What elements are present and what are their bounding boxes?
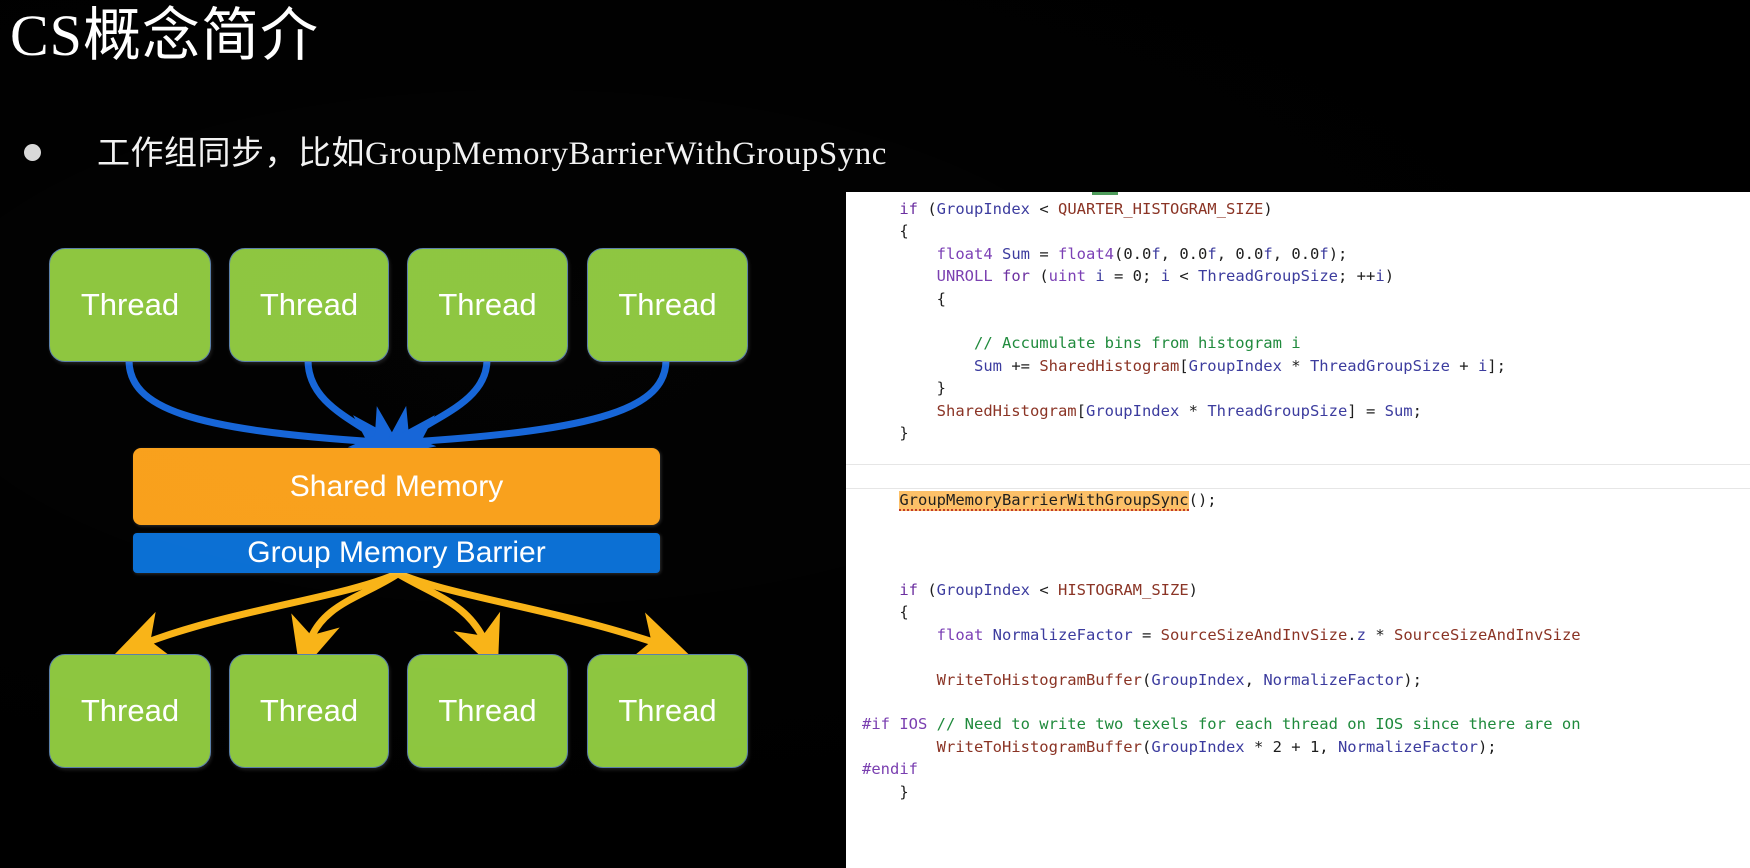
thread-box-bottom-3[interactable]: Thread (407, 654, 568, 768)
bullet-dot-icon (24, 144, 41, 161)
thread-box-label: Thread (618, 287, 716, 323)
thread-box-label: Thread (260, 693, 358, 729)
thread-box-label: Thread (260, 287, 358, 323)
arrow-thread-to-shared-memory (129, 360, 666, 442)
group-memory-barrier-box[interactable]: Group Memory Barrier (133, 533, 660, 573)
thread-box-top-2[interactable]: Thread (229, 248, 389, 362)
shared-memory-label: Shared Memory (290, 470, 503, 504)
code-content[interactable]: if (GroupIndex < QUARTER_HISTOGRAM_SIZE)… (846, 198, 1581, 803)
group-memory-barrier-label: Group Memory Barrier (247, 536, 545, 570)
bullet-item-label: 工作组同步，比如GroupMemoryBarrierWithGroupSync (97, 126, 887, 174)
thread-box-label: Thread (81, 287, 179, 323)
thread-box-bottom-4[interactable]: Thread (587, 654, 748, 768)
thread-box-top-4[interactable]: Thread (587, 248, 748, 362)
thread-box-label: Thread (438, 287, 536, 323)
bullet-list-item: 工作组同步，比如GroupMemoryBarrierWithGroupSync (24, 126, 887, 174)
thread-box-label: Thread (618, 693, 716, 729)
page-title: CS概念简介 (10, 4, 319, 68)
code-scroll-area[interactable]: if (GroupIndex < QUARTER_HISTOGRAM_SIZE)… (846, 192, 1750, 868)
thread-box-bottom-1[interactable]: Thread (49, 654, 211, 768)
thread-group-diagram: Thread Thread Thread Thread Shared Memor… (0, 180, 830, 868)
arrow-barrier-to-thread (140, 575, 662, 646)
thread-box-top-1[interactable]: Thread (49, 248, 211, 362)
code-editor-panel[interactable]: if (GroupIndex < QUARTER_HISTOGRAM_SIZE)… (846, 192, 1750, 868)
thread-box-top-3[interactable]: Thread (407, 248, 568, 362)
shared-memory-box[interactable]: Shared Memory (133, 448, 660, 525)
thread-box-bottom-2[interactable]: Thread (229, 654, 389, 768)
thread-box-label: Thread (438, 693, 536, 729)
thread-box-label: Thread (81, 693, 179, 729)
